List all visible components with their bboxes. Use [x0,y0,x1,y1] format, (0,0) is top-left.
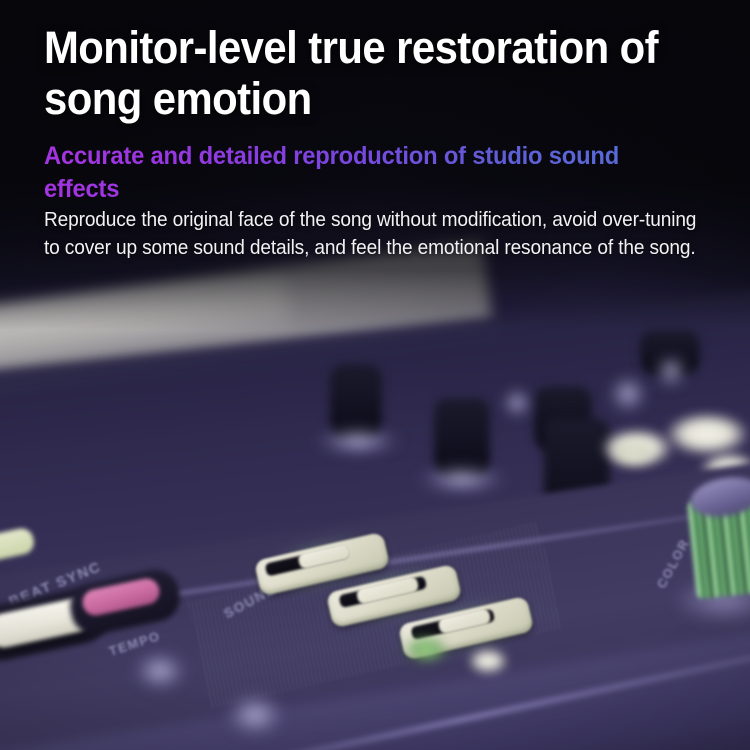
bottom-knob-1 [130,648,190,694]
mixer-knob-2-ring [414,462,510,496]
bottom-knob-2 [222,690,288,740]
bottom-led-white [468,648,508,674]
bottom-led-green [404,636,448,662]
bokeh-button-2 [664,412,750,456]
promo-banner: SOUND COLOR FX BEAT SYNC TEMPO [0,0,750,750]
bokeh-dot-3 [500,386,534,420]
bokeh-button-3 [610,440,656,466]
mixer-knob-1-ring [312,424,404,458]
body-paragraph: Reproduce the original face of the song … [44,206,703,263]
page-title: Monitor-level true restoration of song e… [44,22,667,125]
bokeh-dot-1 [606,372,650,416]
bokeh-dot-2 [652,352,690,390]
page-subtitle: Accurate and detailed reproduction of st… [44,140,690,205]
